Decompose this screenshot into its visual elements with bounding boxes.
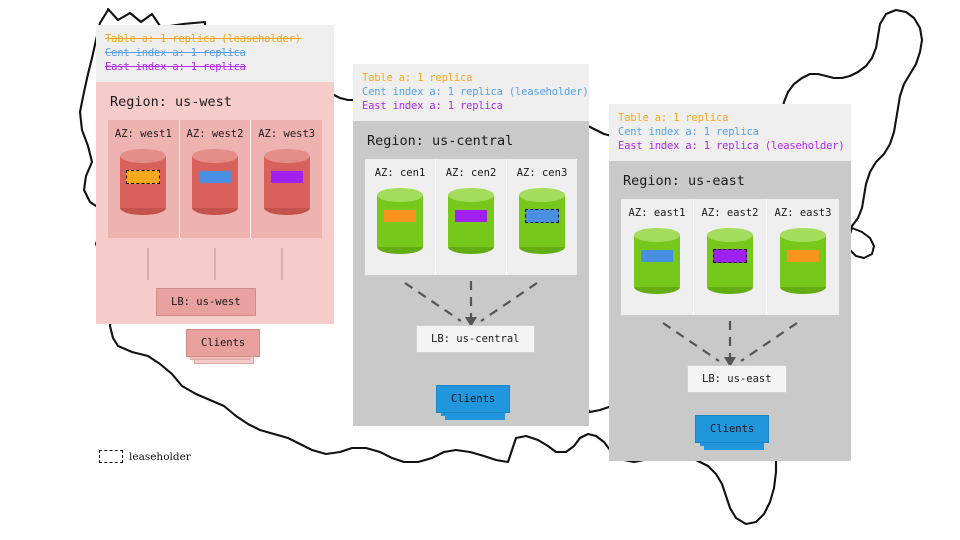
region-panel-us-east[interactable]: Table a: 1 replica Cent index a: 1 repli… [609,104,851,461]
connectors-us-east [609,199,851,369]
region-title-us-central: Region: us-central [353,121,589,159]
region-title-us-west: Region: us-west [96,82,334,120]
connectors-us-west [96,120,334,280]
legend-line-east-index: East index a: 1 replica (leaseholder) [618,139,842,153]
legend-line-table-a: Table a: 1 replica (leaseholder) [105,32,325,46]
replica-chip-east-index[interactable] [455,210,487,222]
legend-line-table-a: Table a: 1 replica [618,111,842,125]
region-legend-us-west: Table a: 1 replica (leaseholder) Cent in… [96,25,334,82]
replica-chip-cent-index[interactable] [199,171,231,183]
replica-chip-table-a[interactable] [384,210,416,222]
load-balancer-us-east[interactable]: LB: us-east [687,365,787,393]
diagram-canvas: Table a: 1 replica (leaseholder) Cent in… [0,0,960,540]
dashed-box-icon [99,450,123,463]
region-legend-us-central: Table a: 1 replica Cent index a: 1 repli… [353,64,589,121]
legend-leaseholder-key: leaseholder [99,450,191,463]
replica-chip-east-index[interactable] [271,171,303,183]
region-panel-us-west[interactable]: Table a: 1 replica (leaseholder) Cent in… [96,25,334,324]
replica-chip-cent-index[interactable] [641,250,673,262]
legend-line-cent-index: Cent index a: 1 replica [105,46,325,60]
region-body-us-east: Region: us-east AZ: east1 [609,161,851,461]
replica-chip-table-a[interactable] [787,250,819,262]
region-panel-us-central[interactable]: Table a: 1 replica Cent index a: 1 repli… [353,64,589,426]
legend-line-east-index: East index a: 1 replica [362,99,580,113]
legend-line-table-a: Table a: 1 replica [362,71,580,85]
replica-chip-cent-index-leaseholder[interactable] [525,209,559,223]
clients-stack-us-west[interactable]: Clients [186,329,260,357]
legend-leaseholder-label: leaseholder [129,451,191,463]
clients-stack-us-central[interactable]: Clients [436,385,510,413]
region-legend-us-east: Table a: 1 replica Cent index a: 1 repli… [609,104,851,161]
clients-box-us-central[interactable]: Clients [436,385,510,413]
clients-box-us-east[interactable]: Clients [695,415,769,443]
east-coast-detail [848,228,874,258]
region-body-us-west: Region: us-west AZ: west1 AZ: [96,82,334,324]
replica-chip-table-a-leaseholder[interactable] [126,170,160,184]
legend-line-cent-index: Cent index a: 1 replica [618,125,842,139]
region-body-us-central: Region: us-central AZ: cen1 [353,121,589,426]
clients-box-us-west[interactable]: Clients [186,329,260,357]
load-balancer-us-central[interactable]: LB: us-central [416,325,535,353]
legend-line-east-index: East index a: 1 replica [105,60,325,74]
region-title-us-east: Region: us-east [609,161,851,199]
clients-stack-us-east[interactable]: Clients [695,415,769,443]
connectors-us-central [353,159,589,329]
load-balancer-us-west[interactable]: LB: us-west [156,288,256,316]
legend-line-cent-index: Cent index a: 1 replica (leaseholder) [362,85,580,99]
replica-chip-east-index-leaseholder[interactable] [713,249,747,263]
